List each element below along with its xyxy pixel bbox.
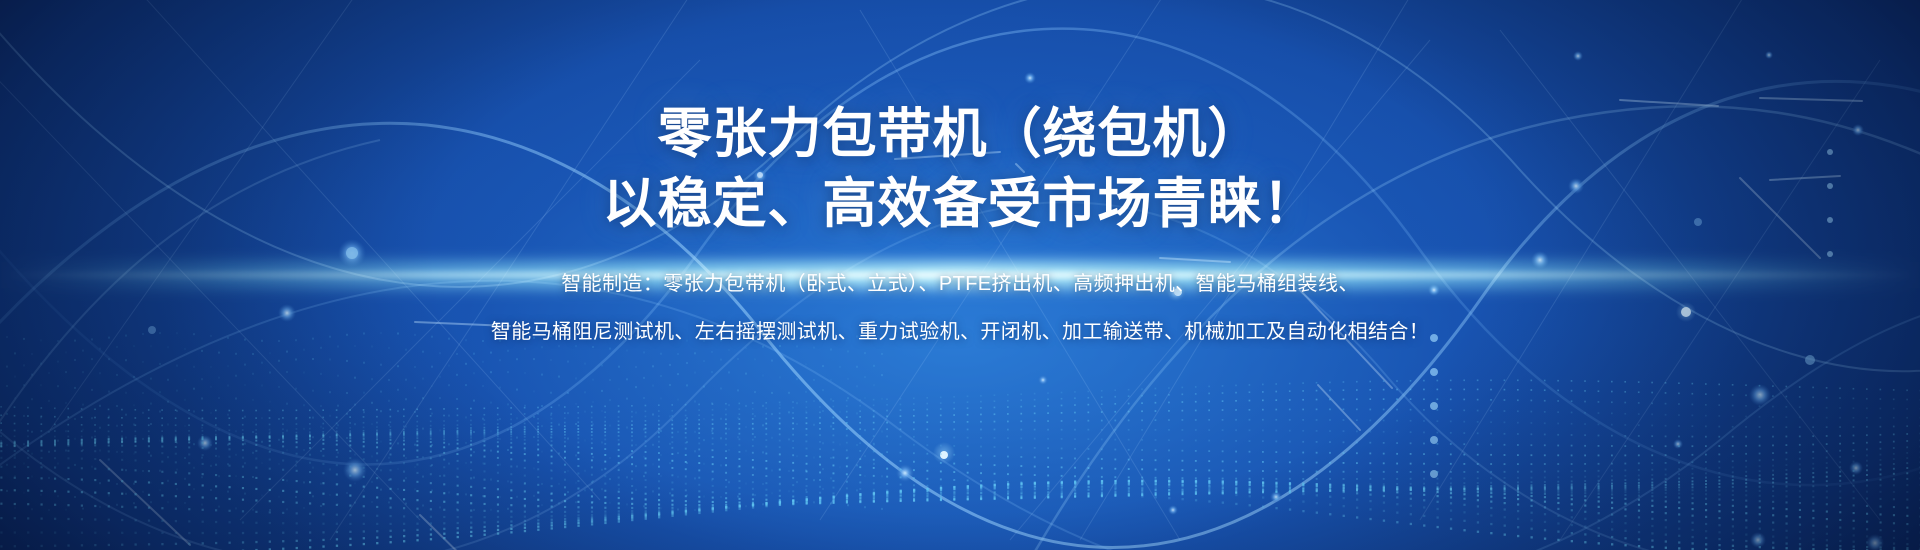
banner-content: 零张力包带机（绕包机） 以稳定、高效备受市场青睐！ 智能制造：零张力包带机（卧式… xyxy=(0,0,1920,356)
subtitle-line-2: 智能马桶阻尼测试机、左右摇摆测试机、重力试验机、开闭机、加工输送带、机械加工及自… xyxy=(491,308,1429,356)
subtitle-line-1: 智能制造：零张力包带机（卧式、立式）、PTFE挤出机、高频押出机、智能马桶组装线… xyxy=(561,260,1359,308)
headline-line-2: 以稳定、高效备受市场青睐！ xyxy=(603,170,1318,238)
headline-line-1: 零张力包带机（绕包机） xyxy=(658,100,1263,168)
hero-banner: 零张力包带机（绕包机） 以稳定、高效备受市场青睐！ 智能制造：零张力包带机（卧式… xyxy=(0,0,1920,550)
